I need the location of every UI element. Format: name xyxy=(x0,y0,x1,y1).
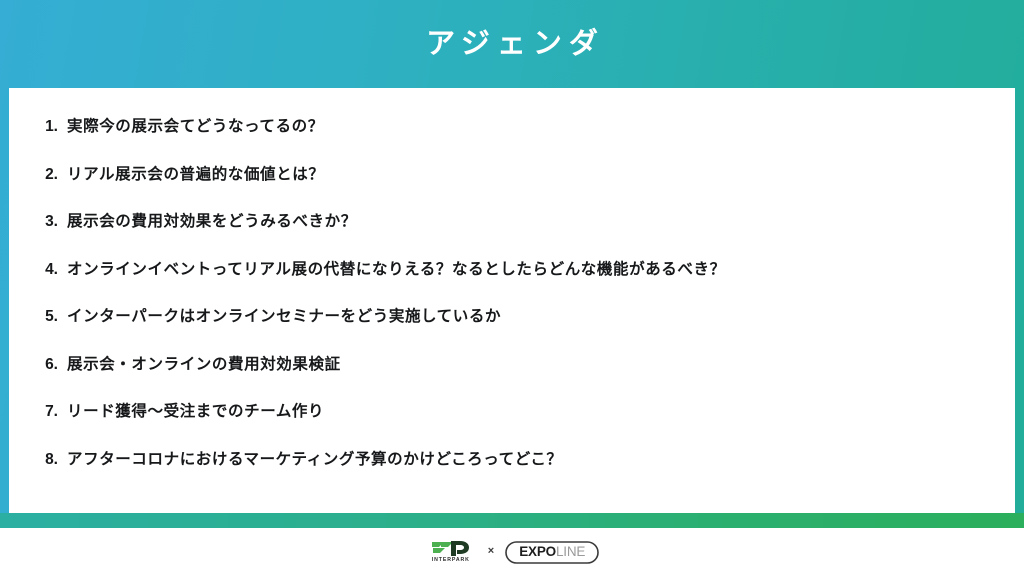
list-item-number: 1. xyxy=(33,118,67,136)
list-item[interactable]: 7. リード獲得〜受注までのチーム作り xyxy=(9,403,1015,451)
list-item-number: 7. xyxy=(33,403,67,421)
list-item-number: 2. xyxy=(33,166,67,184)
expoline-logo: EXPO LINE xyxy=(505,541,599,564)
list-item-number: 5. xyxy=(33,308,67,326)
list-item-number: 8. xyxy=(33,451,67,469)
list-item[interactable]: 3. 展示会の費用対効果をどうみるべきか？ xyxy=(9,213,1015,261)
list-item-number: 3. xyxy=(33,213,67,231)
interpark-wordmark: INTERPARK xyxy=(432,558,470,563)
logo-separator-x: × xyxy=(488,546,494,559)
list-item[interactable]: 5. インターパークはオンラインセミナーをどう実施しているか xyxy=(9,308,1015,356)
list-item-label: オンラインイベントってリアル展の代替になりえる？なるとしたらどんな機能があるべき… xyxy=(67,261,1015,280)
expoline-line-text: LINE xyxy=(556,545,585,559)
list-item-label: 展示会・オンラインの費用対効果検証 xyxy=(67,356,1015,375)
list-item[interactable]: 2. リアル展示会の普遍的な価値とは？ xyxy=(9,166,1015,214)
slide-header: アジェンダ xyxy=(0,0,1024,88)
list-item-label: アフターコロナにおけるマーケティング予算のかけどころってどこ？ xyxy=(67,451,1015,470)
interpark-logo: INTERPARK xyxy=(425,540,477,563)
list-item-label: 実際今の展示会てどうなってるの？ xyxy=(67,118,1015,137)
expoline-expo-text: EXPO xyxy=(519,545,556,559)
list-item-label: インターパークはオンラインセミナーをどう実施しているか xyxy=(67,308,1015,327)
slide-footer: INTERPARK × EXPO LINE xyxy=(0,528,1024,576)
list-item-number: 6. xyxy=(33,356,67,374)
list-item-label: リアル展示会の普遍的な価値とは？ xyxy=(67,166,1015,185)
list-item-label: リード獲得〜受注までのチーム作り xyxy=(67,403,1015,422)
list-item-number: 4. xyxy=(33,261,67,279)
list-item-label: 展示会の費用対効果をどうみるべきか？ xyxy=(67,213,1015,232)
list-item[interactable]: 4. オンラインイベントってリアル展の代替になりえる？なるとしたらどんな機能があ… xyxy=(9,261,1015,309)
page-title: アジェンダ xyxy=(419,30,605,59)
list-item[interactable]: 1. 実際今の展示会てどうなってるの？ xyxy=(9,118,1015,166)
list-item[interactable]: 6. 展示会・オンラインの費用対効果検証 xyxy=(9,356,1015,404)
content-card: 1. 実際今の展示会てどうなってるの？ 2. リアル展示会の普遍的な価値とは？ … xyxy=(9,88,1015,513)
interpark-mark-icon xyxy=(431,540,471,557)
agenda-list: 1. 実際今の展示会てどうなってるの？ 2. リアル展示会の普遍的な価値とは？ … xyxy=(9,88,1015,498)
accent-bar xyxy=(0,513,1024,528)
agenda-slide: アジェンダ 1. 実際今の展示会てどうなってるの？ 2. リアル展示会の普遍的な… xyxy=(0,0,1024,576)
list-item[interactable]: 8. アフターコロナにおけるマーケティング予算のかけどころってどこ？ xyxy=(9,451,1015,499)
expoline-wordmark: EXPO LINE xyxy=(516,545,588,559)
